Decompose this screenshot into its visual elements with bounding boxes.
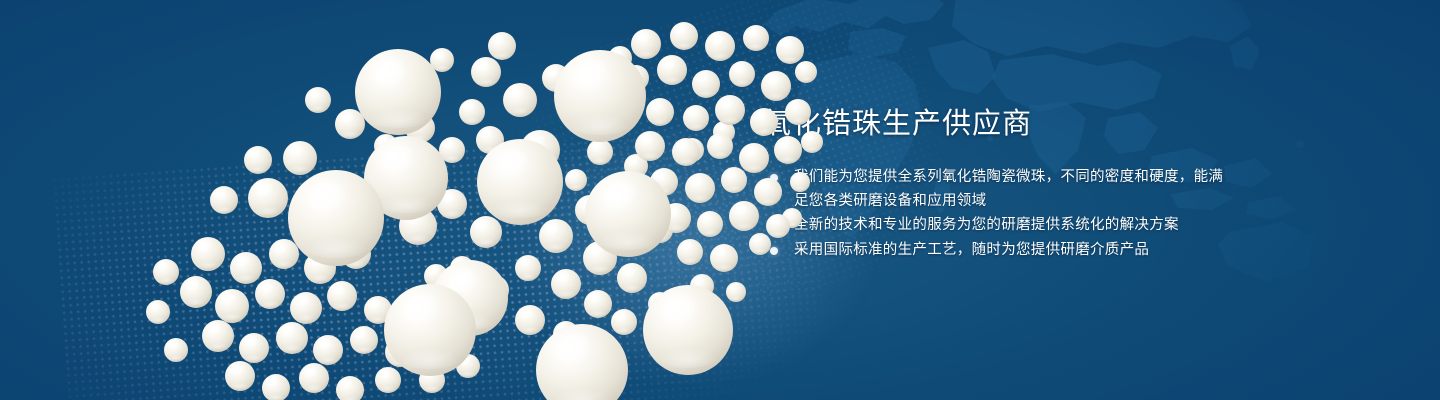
- bullet-circle-icon: [770, 222, 778, 230]
- list-item: 采用国际标准的生产工艺，随时为您提供研磨介质产品: [762, 239, 1232, 263]
- page-title: 氧化锆珠生产供应商: [762, 104, 1232, 144]
- list-item-label: 我们能为您提供全系列氧化锆陶瓷微珠，不同的密度和硬度，能满足您各类研磨设备和应用…: [794, 169, 1223, 209]
- list-item-label: 全新的技术和专业的服务为您的研磨提供系统化的解决方案: [794, 217, 1179, 233]
- feature-list: 我们能为您提供全系列氧化锆陶瓷微珠，不同的密度和硬度，能满足您各类研磨设备和应用…: [762, 166, 1232, 262]
- list-item: 我们能为您提供全系列氧化锆陶瓷微珠，不同的密度和硬度，能满足您各类研磨设备和应用…: [762, 166, 1232, 213]
- bullet-circle-icon: [770, 247, 778, 255]
- list-item-label: 采用国际标准的生产工艺，随时为您提供研磨介质产品: [794, 242, 1149, 258]
- banner-copy: 氧化锆珠生产供应商 我们能为您提供全系列氧化锆陶瓷微珠，不同的密度和硬度，能满足…: [762, 104, 1232, 262]
- bullet-circle-icon: [770, 174, 778, 182]
- list-item: 全新的技术和专业的服务为您的研磨提供系统化的解决方案: [762, 214, 1232, 238]
- hero-banner: 氧化锆珠生产供应商 我们能为您提供全系列氧化锆陶瓷微珠，不同的密度和硬度，能满足…: [0, 0, 1440, 400]
